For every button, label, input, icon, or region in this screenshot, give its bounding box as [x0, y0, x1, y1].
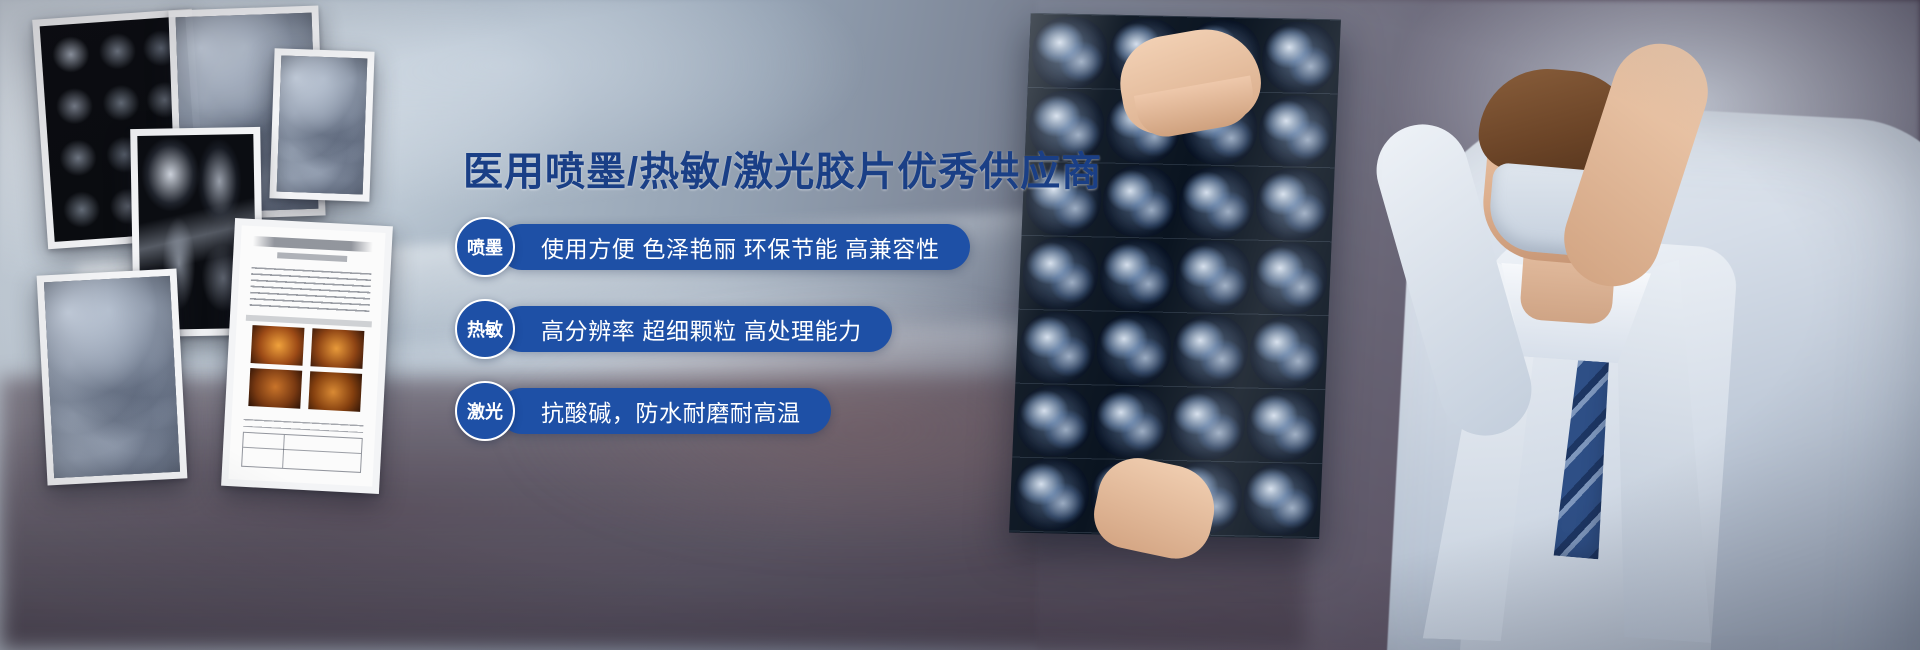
feature-tag-laser: 激光: [455, 381, 515, 441]
feature-text-laser: 抗酸碱，防水耐磨耐高温: [499, 388, 831, 434]
page-title: 医用喷墨/热敏/激光胶片优秀供应商: [463, 150, 1155, 195]
hero-content: 医用喷墨/热敏/激光胶片优秀供应商 喷墨 使用方便 色泽艳丽 环保节能 高兼容性…: [455, 150, 1155, 463]
feature-tag-thermal: 热敏: [455, 299, 515, 359]
feature-tag-inkjet: 喷墨: [455, 217, 515, 277]
feature-text-inkjet: 使用方便 色泽艳丽 环保节能 高兼容性: [499, 224, 970, 270]
feature-text-thermal: 高分辨率 超细颗粒 高处理能力: [499, 306, 892, 352]
feature-row-thermal: 热敏 高分辨率 超细颗粒 高处理能力: [455, 299, 1155, 359]
feature-row-inkjet: 喷墨 使用方便 色泽艳丽 环保节能 高兼容性: [455, 217, 1155, 277]
medical-film-hero-banner: 医用喷墨/热敏/激光胶片优秀供应商 喷墨 使用方便 色泽艳丽 环保节能 高兼容性…: [0, 0, 1920, 650]
feature-row-laser: 激光 抗酸碱，防水耐磨耐高温: [455, 381, 1155, 441]
